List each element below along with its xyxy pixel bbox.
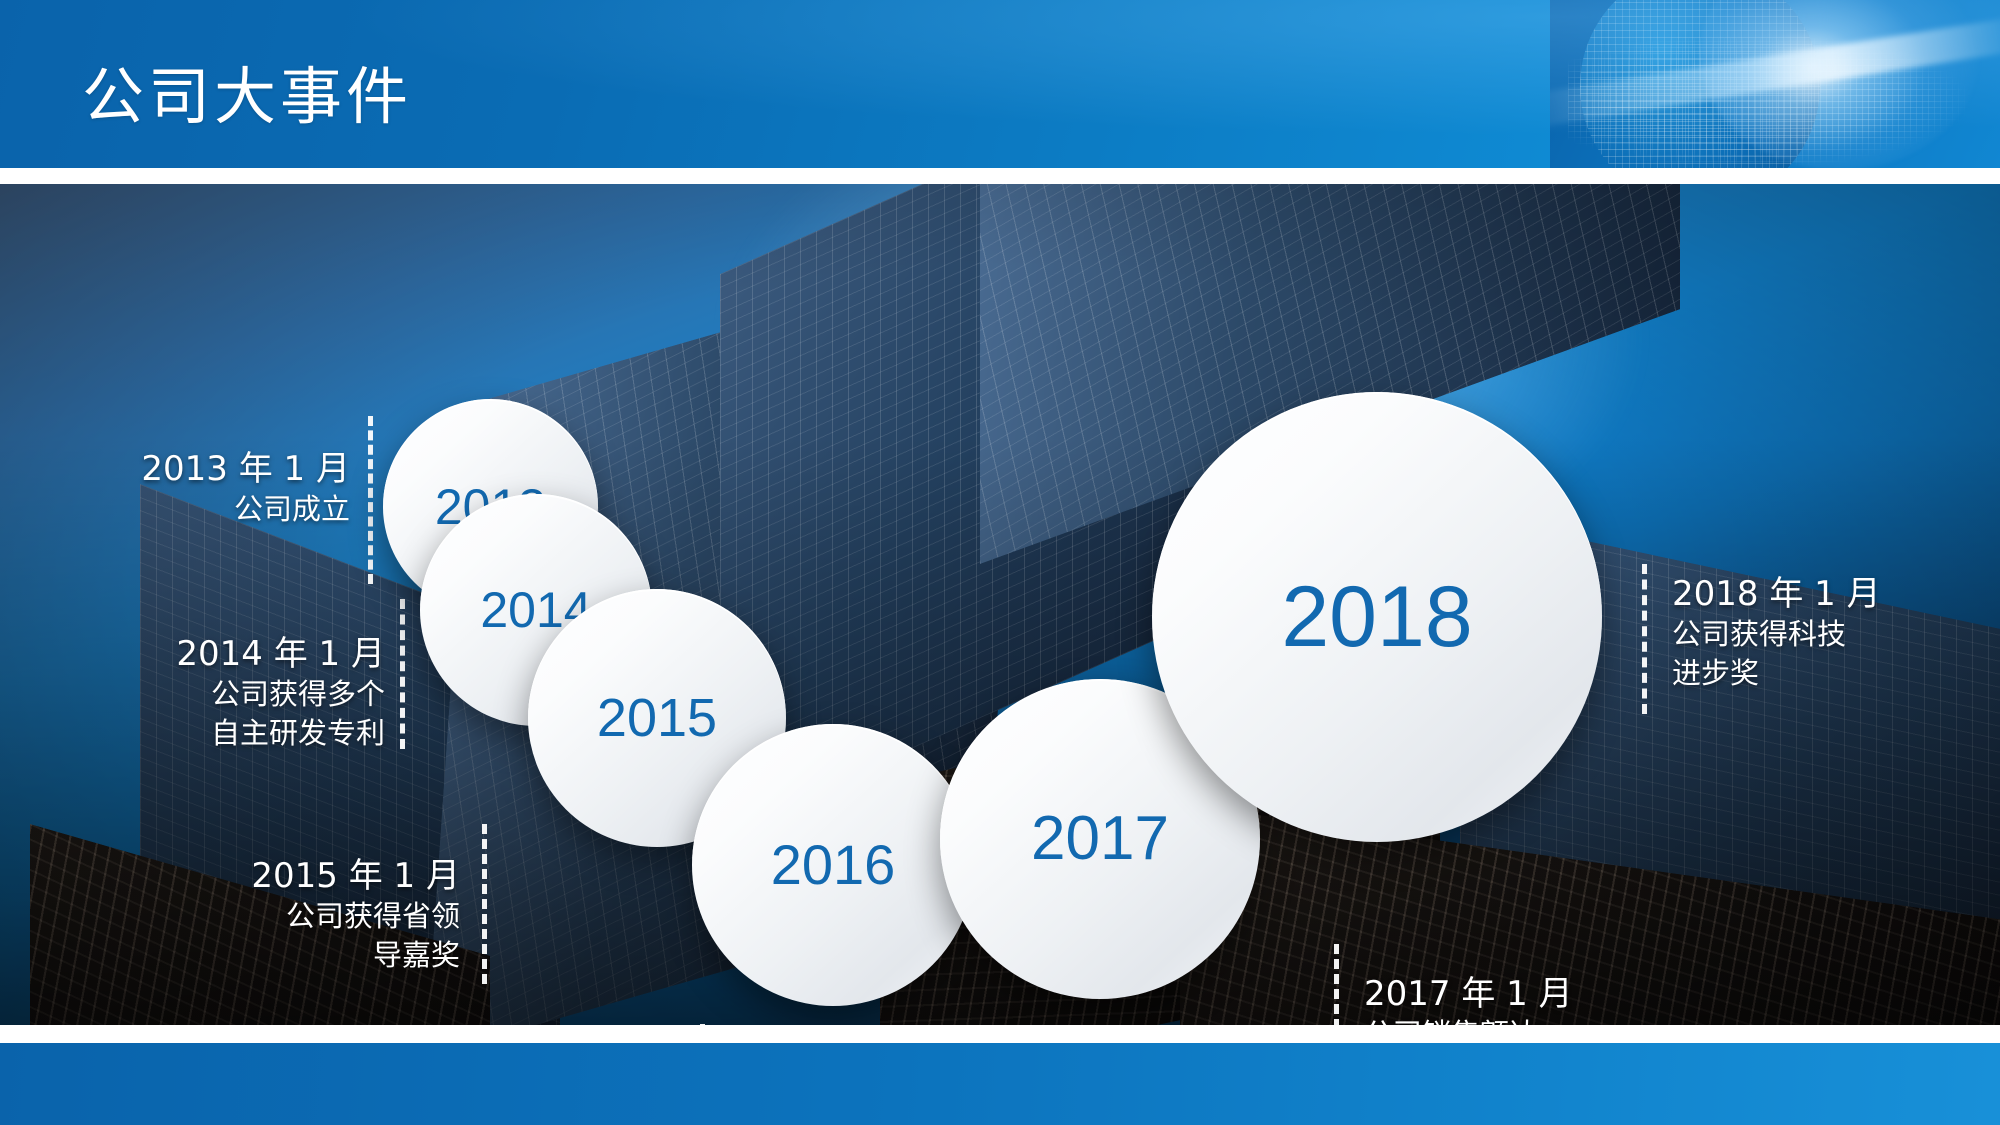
background-photo: 2013 2014 2015 2016 2017 2018 2013 年 1 月…	[0, 184, 2000, 1025]
milestone-date-2015: 2015 年 1 月	[100, 856, 460, 897]
milestone-text-2015-line1: 公司获得省领	[100, 897, 460, 935]
globe-icon	[1550, 0, 2000, 168]
milestone-date-2017: 2017 年 1 月	[1364, 974, 1694, 1015]
footer-bar	[0, 1043, 2000, 1125]
milestone-date-2014: 2014 年 1 月	[40, 634, 385, 675]
milestone-label-2018: 2018 年 1 月 公司获得科技 进步奖	[1672, 574, 1992, 692]
footer-divider	[0, 1025, 2000, 1043]
milestone-text-2018-line1: 公司获得科技	[1672, 615, 1992, 653]
connector-2018	[1642, 564, 1647, 714]
milestone-year-2015: 2015	[597, 691, 717, 745]
milestone-circle-2018[interactable]: 2018	[1152, 392, 1602, 842]
connector-2015	[482, 824, 487, 984]
milestone-circle-2016[interactable]: 2016	[692, 724, 974, 1006]
header-banner: 公司大事件	[0, 0, 2000, 168]
milestone-text-2014-line1: 公司获得多个	[40, 675, 385, 713]
header-divider	[0, 168, 2000, 184]
connector-2013	[368, 416, 373, 584]
milestone-text-2017-line1: 公司销售额达	[1364, 1015, 1694, 1025]
milestone-date-2013: 2013 年 1 月	[40, 449, 350, 490]
milestone-year-2018: 2018	[1281, 574, 1472, 660]
milestone-date-2018: 2018 年 1 月	[1672, 574, 1992, 615]
slide-canvas: 公司大事件 2013 2014 2015	[0, 0, 2000, 1125]
milestone-text-2015-line2: 导嘉奖	[100, 936, 460, 974]
milestone-year-2017: 2017	[1031, 808, 1169, 870]
milestone-label-2015: 2015 年 1 月 公司获得省领 导嘉奖	[100, 856, 460, 974]
milestone-year-2016: 2016	[771, 837, 896, 893]
page-title: 公司大事件	[82, 46, 412, 136]
connector-2017	[1334, 944, 1339, 1025]
milestone-text-2013-line1: 公司成立	[40, 490, 350, 528]
milestone-label-2013: 2013 年 1 月 公司成立	[40, 449, 350, 529]
milestone-text-2018-line2: 进步奖	[1672, 654, 1992, 692]
milestone-label-2014: 2014 年 1 月 公司获得多个 自主研发专利	[40, 634, 385, 752]
milestone-label-2017: 2017 年 1 月 公司销售额达 到 10 亿元	[1364, 974, 1694, 1025]
connector-2014	[400, 599, 405, 749]
milestone-text-2014-line2: 自主研发专利	[40, 714, 385, 752]
